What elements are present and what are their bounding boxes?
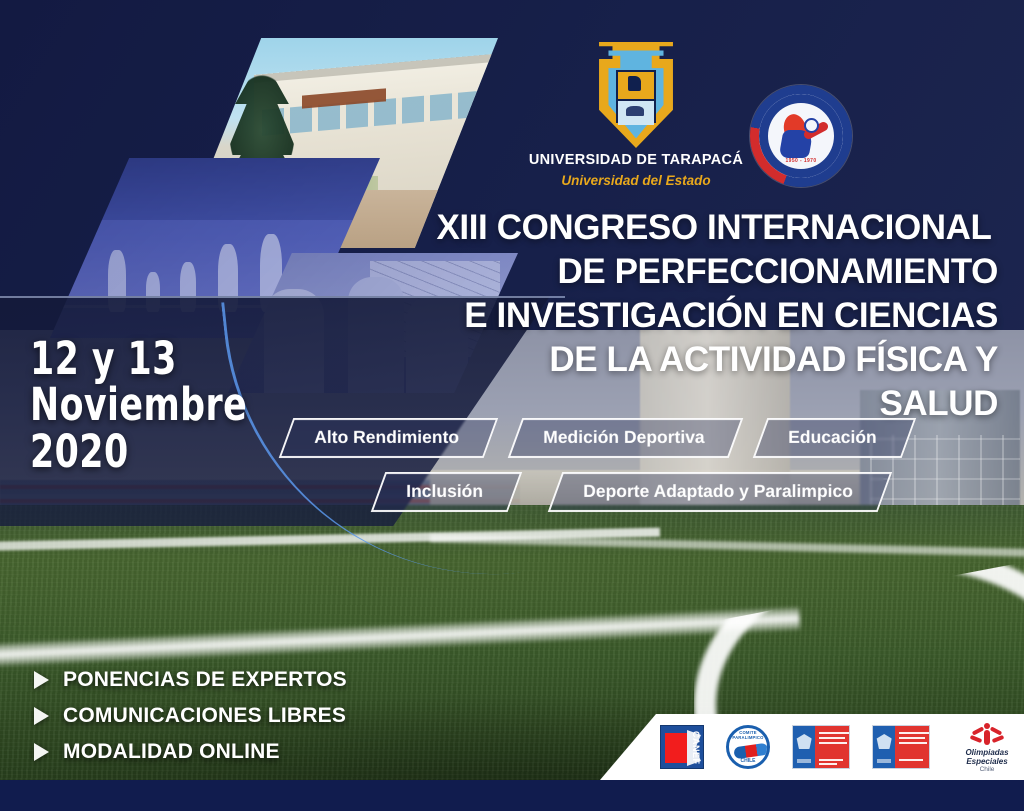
ind-text-line <box>899 759 923 761</box>
title-line-2: DE PERFECCIONAMIENTO <box>430 250 998 294</box>
feature-item-comunicaciones: COMUNICACIONES LIBRES <box>34 704 347 728</box>
gov-crest-icon <box>797 734 812 749</box>
canef-flag-icon: CANEF <box>660 725 704 769</box>
gov-text-panel <box>815 726 849 768</box>
gov-crest-caption <box>797 759 811 763</box>
sponsor-comite-paralimpico: COMITE PARALIMPICO CHILE <box>726 725 770 769</box>
feature-item-modalidad: MODALIDAD ONLINE <box>34 740 347 764</box>
gobierno-chile-icon <box>792 725 850 769</box>
topic-tags: Alto Rendimiento Medición Deportiva Educ… <box>286 418 986 526</box>
topic-tag-label: Deporte Adaptado y Paralimpico <box>583 481 853 502</box>
ind-text-panel <box>895 726 929 768</box>
paralympic-committee-icon: COMITE PARALIMPICO CHILE <box>726 725 770 769</box>
feature-list: PONENCIAS DE EXPERTOS COMUNICACIONES LIB… <box>34 668 347 776</box>
seal-years: 1950 - 1970 <box>759 158 843 164</box>
shield-emblem-lower <box>626 106 644 117</box>
title-line-3: E INVESTIGACIÓN EN CIENCIAS <box>430 294 998 338</box>
gov-text-line <box>819 763 837 765</box>
topic-tag-alto-rendimiento[interactable]: Alto Rendimiento <box>279 418 498 458</box>
gov-crest-panel <box>793 726 815 768</box>
topic-tags-row-1: Alto Rendimiento Medición Deportiva Educ… <box>286 418 986 458</box>
olimpiadas-label-2: Especiales <box>952 758 1022 767</box>
seal-disc: 1950 - 1970 <box>759 94 843 178</box>
ind-text-line <box>899 737 925 739</box>
topic-tag-medicion-deportiva[interactable]: Medición Deportiva <box>508 418 744 458</box>
ind-text-line <box>899 732 929 734</box>
topic-tag-label: Medición Deportiva <box>543 427 704 448</box>
department-seal-icon: 1950 - 1970 <box>750 85 852 187</box>
triangle-bullet-icon <box>34 671 49 689</box>
sponsor-banner: CANEF COMITE PARALIMPICO CHILE <box>600 714 1024 780</box>
topic-tags-row-2: Inclusión Deporte Adaptado y Paralimpico <box>378 472 986 512</box>
feature-label: PONENCIAS DE EXPERTOS <box>63 668 347 692</box>
so-figure-body <box>984 730 990 745</box>
sponsor-olimpiadas-especiales: Olimpiadas Especiales Chile <box>952 721 1022 774</box>
so-figure-head <box>984 723 990 729</box>
topic-tag-educacion[interactable]: Educación <box>753 418 916 458</box>
gov-text-line <box>819 737 845 739</box>
uta-shield-icon <box>594 42 678 148</box>
sponsor-ministerio-salud <box>792 725 850 769</box>
topic-tag-deporte-adaptado[interactable]: Deporte Adaptado y Paralimpico <box>548 472 892 512</box>
ind-crest-caption <box>877 759 891 763</box>
paralympic-top-label: COMITE PARALIMPICO <box>729 730 767 740</box>
date-days: 12 y 13 <box>30 336 228 382</box>
paralympic-swoosh <box>733 743 768 760</box>
conference-poster: UNIVERSIDAD DE TARAPACÁ Universidad del … <box>0 0 1024 811</box>
title-line-1: XIII CONGRESO INTERNACIONAL <box>430 206 998 250</box>
ind-crest-panel <box>873 726 895 768</box>
so-ray <box>970 735 983 743</box>
seal-figure-head <box>806 120 817 131</box>
so-ray <box>990 726 1002 735</box>
special-olympics-icon <box>970 721 1004 747</box>
header-logos: UNIVERSIDAD DE TARAPACÁ Universidad del … <box>520 30 900 210</box>
sponsor-canef: CANEF <box>660 725 704 769</box>
seal-core <box>759 110 843 162</box>
topic-tag-inclusion[interactable]: Inclusión <box>371 472 522 512</box>
sponsor-instituto-nacional-deportes <box>872 725 930 769</box>
date-year: 2020 <box>30 429 228 475</box>
olimpiadas-label-3: Chile <box>952 766 1022 773</box>
so-ray <box>992 735 1005 743</box>
date-month: Noviembre <box>30 382 228 428</box>
ind-chile-icon <box>872 725 930 769</box>
triangle-bullet-icon <box>34 743 49 761</box>
feature-label: MODALIDAD ONLINE <box>63 740 280 764</box>
feature-item-ponencias: PONENCIAS DE EXPERTOS <box>34 668 347 692</box>
topic-tag-label: Inclusión <box>406 481 483 502</box>
feature-label: COMUNICACIONES LIBRES <box>63 704 346 728</box>
gov-text-line <box>819 742 847 744</box>
paralympic-bottom-label: CHILE <box>729 758 767 764</box>
page-title: XIII CONGRESO INTERNACIONAL DE PERFECCIO… <box>430 206 998 426</box>
ind-text-line <box>899 742 927 744</box>
gov-text-line <box>819 759 843 761</box>
shield-emblem-upper <box>628 76 641 91</box>
topic-tag-label: Alto Rendimiento <box>314 427 459 448</box>
canef-red-block <box>665 733 687 763</box>
bottom-bar <box>0 780 1024 811</box>
canef-label: CANEF <box>690 726 702 770</box>
university-subtitle: Universidad del Estado <box>520 173 752 188</box>
event-date: 12 y 13 Noviembre 2020 <box>30 336 228 475</box>
topic-tag-label: Educación <box>788 427 877 448</box>
triangle-bullet-icon <box>34 707 49 725</box>
ind-crest-icon <box>877 734 892 749</box>
gov-text-line <box>819 732 849 734</box>
so-ray <box>972 726 984 735</box>
university-name: UNIVERSIDAD DE TARAPACÁ <box>520 152 752 168</box>
title-line-4: DE LA ACTIVIDAD FÍSICA Y SALUD <box>430 338 998 426</box>
